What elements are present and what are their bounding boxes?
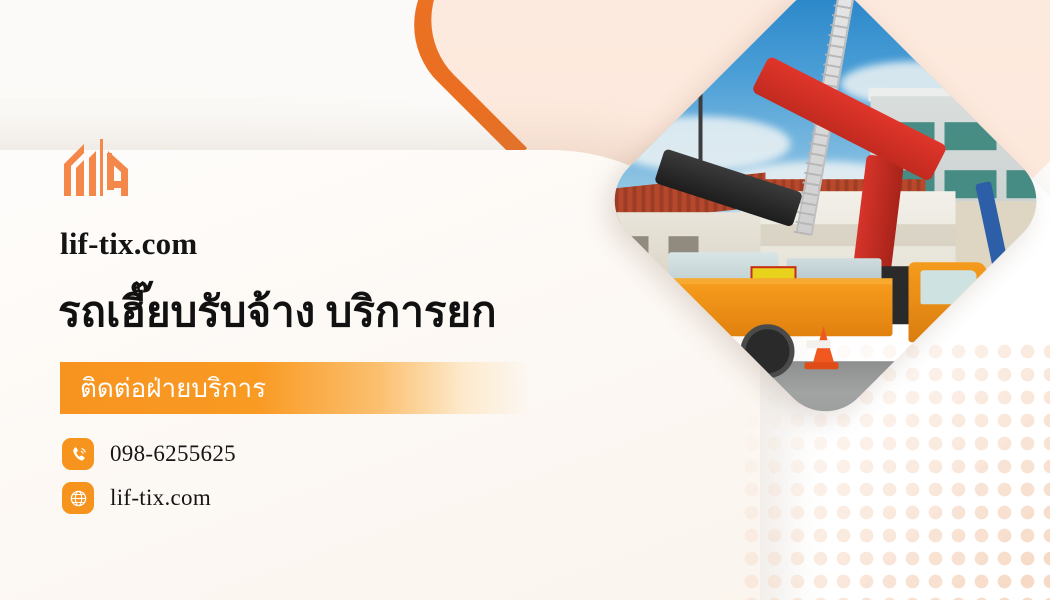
phone-number: 098-6255625 bbox=[110, 441, 236, 467]
building-crane-logo-icon bbox=[62, 136, 132, 198]
content-layer: lif-tix.com รถเฮี๊ยบรับจ้าง บริการยก ติด… bbox=[0, 0, 1050, 600]
cta-label: ติดต่อฝ่ายบริการ bbox=[60, 368, 266, 409]
cta-banner: ติดต่อฝ่ายบริการ bbox=[60, 362, 530, 414]
contact-website[interactable]: lif-tix.com bbox=[62, 482, 211, 514]
globe-icon bbox=[62, 482, 94, 514]
contact-phone[interactable]: 098-6255625 bbox=[62, 438, 236, 470]
website-url: lif-tix.com bbox=[110, 485, 211, 511]
promotional-banner: lif-tix.com รถเฮี๊ยบรับจ้าง บริการยก ติด… bbox=[0, 0, 1050, 600]
phone-icon bbox=[62, 438, 94, 470]
brand-name: lif-tix.com bbox=[60, 226, 197, 262]
headline: รถเฮี๊ยบรับจ้าง บริการยก bbox=[58, 279, 497, 345]
